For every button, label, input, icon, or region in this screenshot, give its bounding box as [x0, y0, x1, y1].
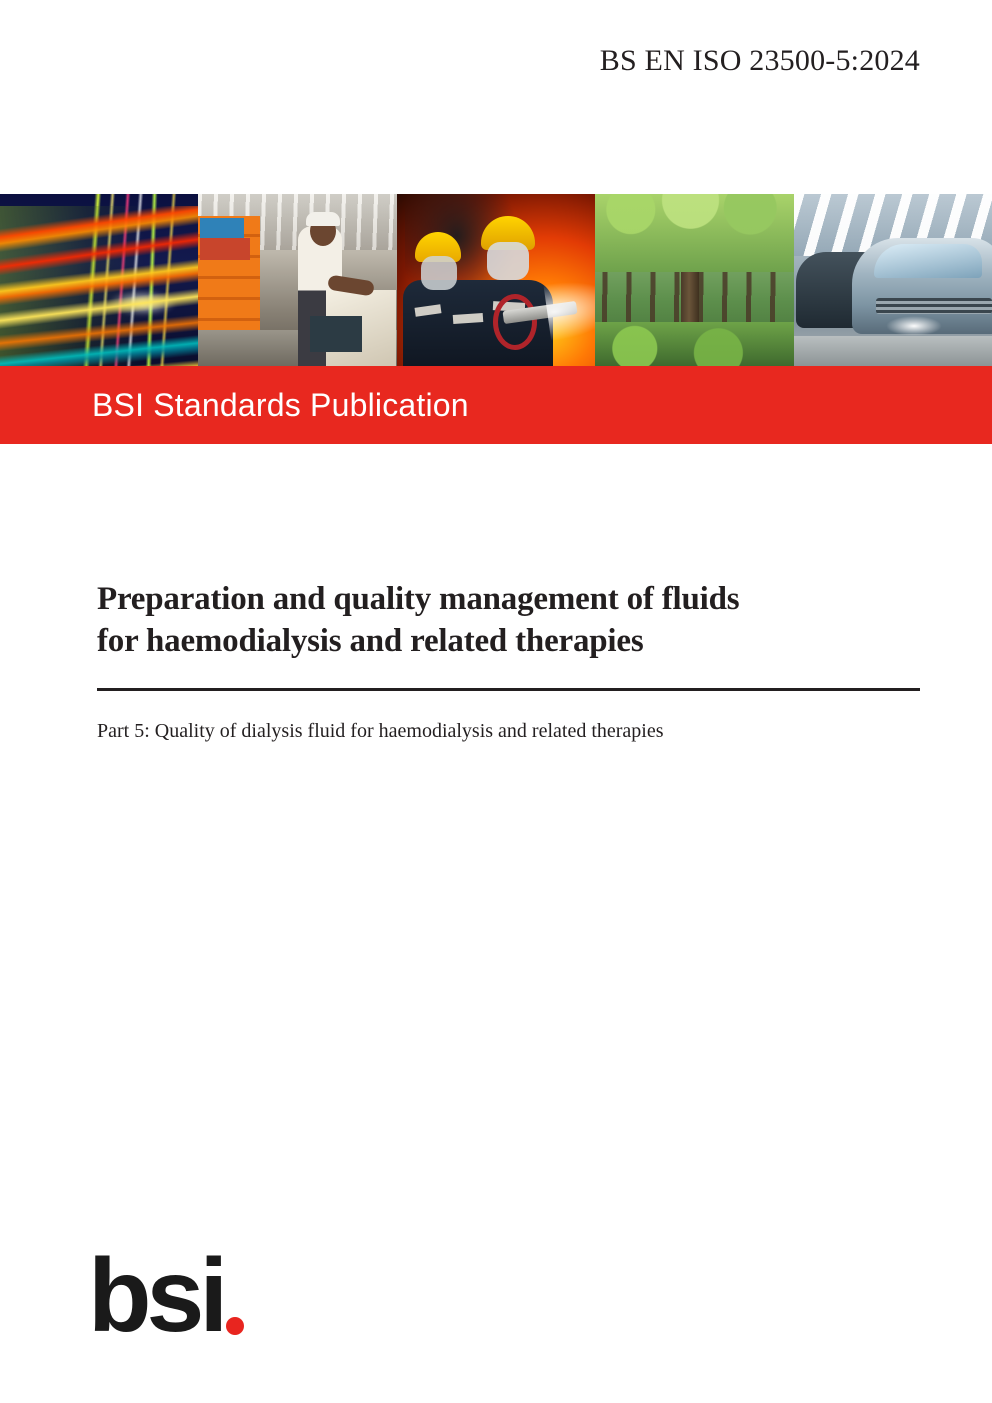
- factory-floor-decoration: [794, 336, 992, 366]
- light-glow-decoration: [107, 290, 177, 316]
- standards-publication-banner: BSI Standards Publication: [0, 366, 992, 444]
- bsi-red-dot-icon: [226, 1317, 244, 1335]
- car-windshield-decoration: [874, 244, 982, 278]
- water-spray-decoration: [543, 275, 595, 340]
- dark-bin-decoration: [310, 316, 362, 352]
- firefighter-mask-left-decoration: [421, 256, 457, 290]
- photo-firefighters: [397, 194, 595, 366]
- title-block: Preparation and quality management of fl…: [97, 578, 920, 744]
- photo-night-traffic-light-trails: [0, 194, 198, 366]
- page-title: Preparation and quality management of fl…: [97, 578, 920, 662]
- standard-number: BS EN ISO 23500-5:2024: [0, 44, 920, 78]
- forest-canopy-decoration: [595, 194, 793, 272]
- bsi-wordmark: bsi: [88, 1255, 223, 1337]
- bsi-logo: bsi: [88, 1255, 244, 1337]
- photo-warehouse-logistics: [198, 194, 396, 366]
- cover-photo-strip: [0, 194, 992, 366]
- blue-crate-decoration: [200, 218, 244, 238]
- title-divider: [97, 688, 920, 691]
- page-subtitle: Part 5: Quality of dialysis fluid for ha…: [97, 718, 920, 744]
- title-line-2: for haemodialysis and related therapies: [97, 623, 643, 659]
- car-headlight-decoration: [886, 316, 942, 336]
- title-line-1: Preparation and quality management of fl…: [97, 581, 739, 617]
- firefighter-mask-right-decoration: [487, 242, 529, 280]
- banner-label: BSI Standards Publication: [92, 387, 469, 424]
- car-grille-decoration: [876, 298, 992, 314]
- forest-floor-decoration: [595, 322, 793, 366]
- photo-car-assembly-line: [794, 194, 992, 366]
- red-crate-decoration: [200, 238, 250, 260]
- worker-cap-decoration: [306, 212, 340, 226]
- photo-forest: [595, 194, 793, 366]
